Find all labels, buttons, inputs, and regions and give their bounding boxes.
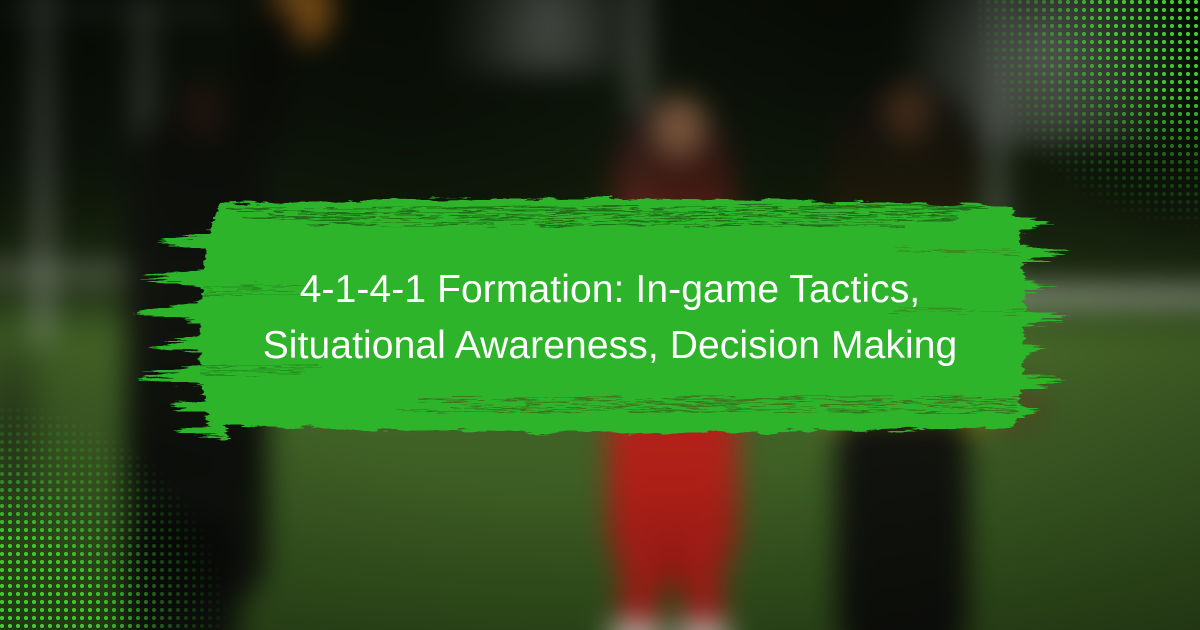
card-title: 4-1-4-1 Formation: In-game Tactics, Situ… [210, 262, 1010, 374]
social-share-card: 4-1-4-1 Formation: In-game Tactics, Situ… [0, 0, 1200, 630]
